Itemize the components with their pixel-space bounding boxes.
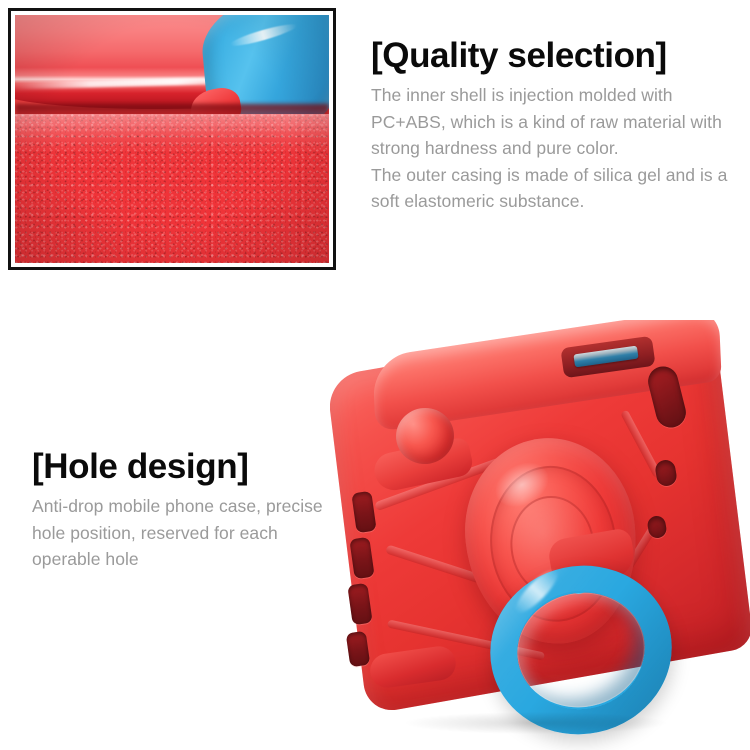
hole-design-body: Anti-drop mobile phone case, precise hol… [32,493,332,573]
quality-selection-body: The inner shell is injection molded with… [371,82,743,215]
product-contact-shadow [406,712,666,734]
quality-selection-heading: [Quality selection] [371,36,743,75]
detail-photo-image [15,15,329,263]
detail-photo-frame [8,8,336,270]
photo-vignette [15,15,329,263]
quality-selection-block: [Quality selection] The inner shell is i… [371,36,743,215]
product-photo [330,320,750,750]
hole-design-block: [Hole design] Anti-drop mobile phone cas… [32,447,332,573]
hole-design-paragraph-1: Anti-drop mobile phone case, precise hol… [32,493,332,573]
product-photo-stage [330,320,750,750]
quality-selection-paragraph-2: The outer casing is made of silica gel a… [371,162,743,215]
quality-selection-paragraph-1: The inner shell is injection molded with… [371,82,743,162]
hole-design-heading: [Hole design] [32,447,332,486]
